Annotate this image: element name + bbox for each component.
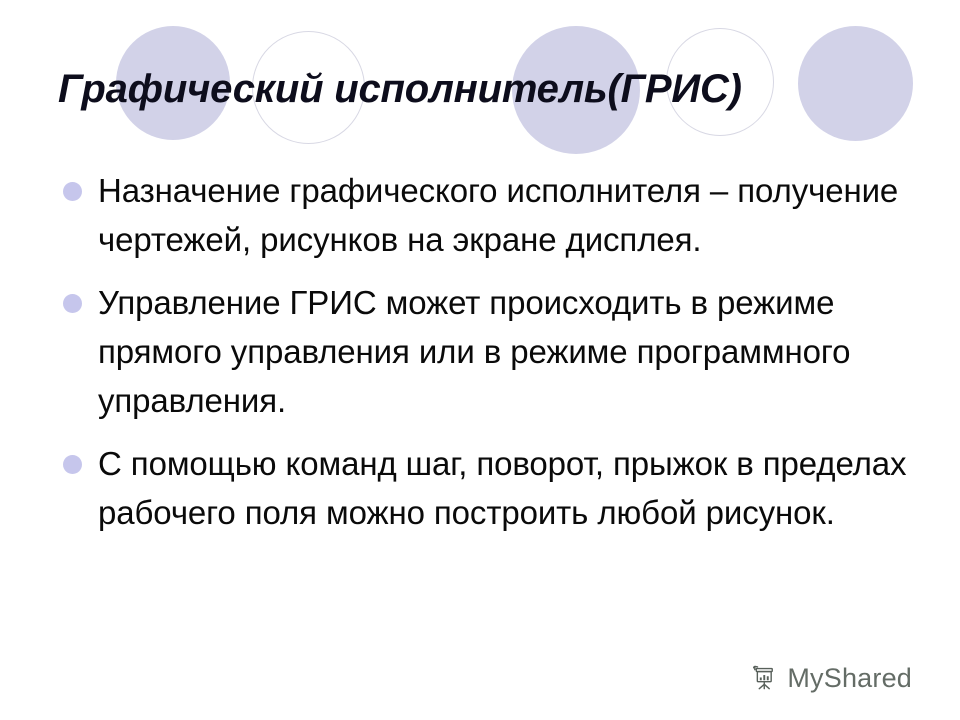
slide: Графический исполнитель(ГРИС) Назначение… — [0, 0, 960, 720]
page-title: Графический исполнитель(ГРИС) — [58, 67, 742, 111]
list-item: С помощью команд шаг, поворот, прыжок в … — [58, 439, 938, 537]
list-item-text: Назначение графического исполнителя – по… — [98, 166, 938, 264]
list-item-text: Управление ГРИС может происходить в режи… — [98, 278, 938, 425]
list-item: Назначение графического исполнителя – по… — [58, 166, 938, 264]
bullet-dot-icon — [63, 294, 82, 313]
list-item-text: С помощью команд шаг, поворот, прыжок в … — [98, 439, 938, 537]
watermark-label: MyShared — [787, 665, 912, 692]
bullet-list: Назначение графического исполнителя – по… — [58, 166, 938, 537]
bullet-dot-icon — [63, 455, 82, 474]
bullet-dot-icon — [63, 182, 82, 201]
title-block: Графический исполнитель(ГРИС) — [58, 54, 928, 124]
presentation-board-icon — [750, 664, 778, 692]
list-item: Управление ГРИС может происходить в режи… — [58, 278, 938, 425]
watermark: MyShared — [750, 664, 912, 692]
